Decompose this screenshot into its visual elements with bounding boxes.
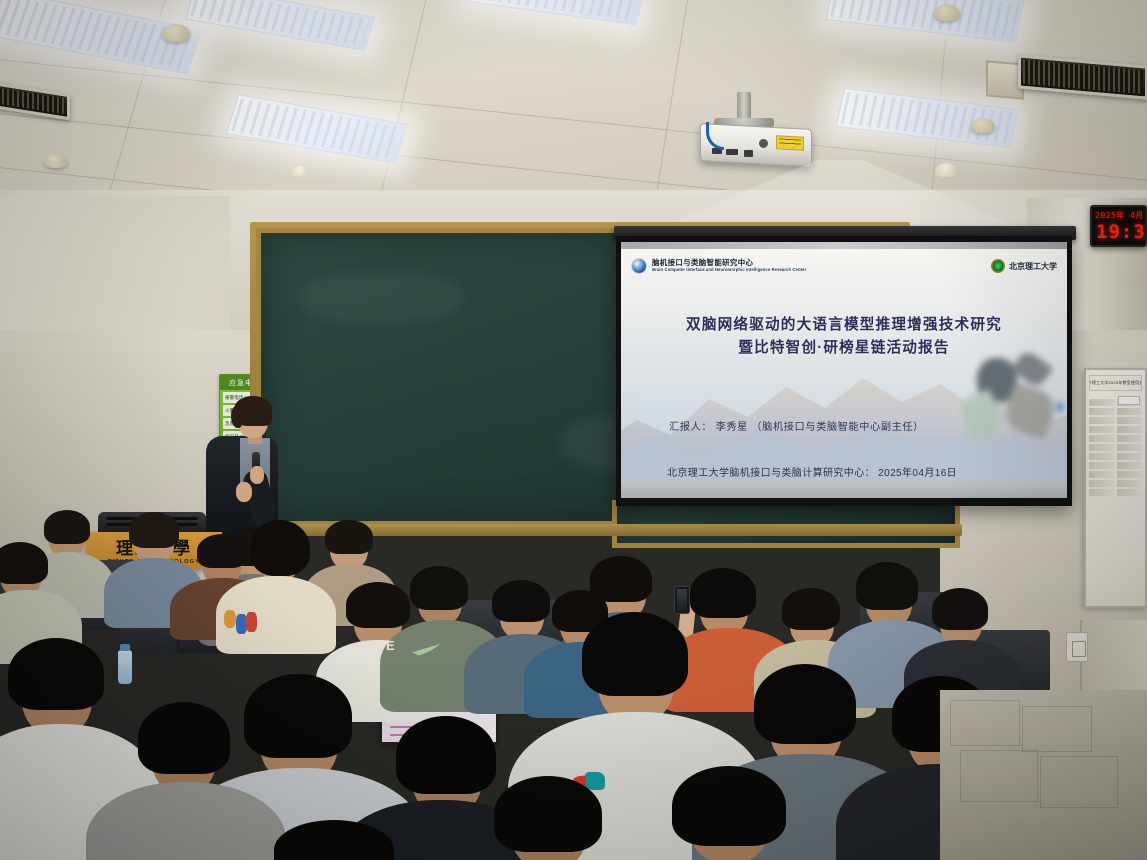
notice-board-title: 北京理工大学2025年教室使用安排 [1089,375,1142,391]
pendant-lamp-icon [292,166,308,177]
smoke-detector-icon [44,154,68,168]
projector-port [744,150,753,157]
notice-board-tag [1118,396,1140,405]
wall-notice-board: 北京理工大学2025年教室使用安排 [1084,368,1147,608]
pendant-lamp-icon [935,163,957,177]
slide-title-line1: 双脑网络驱动的大语言模型推理增强技术研究 [621,314,1067,337]
projection-screen: 脑机接口与类脑智能研究中心 Brain Computer Interface a… [616,236,1072,506]
presentation-slide: 脑机接口与类脑智能研究中心 Brain Computer Interface a… [621,242,1067,498]
speaker-hand [250,466,264,484]
notice-board-rows [1086,395,1145,500]
air-conditioning-vent [1018,54,1147,99]
raised-smartphone [674,586,690,614]
smoke-detector-icon [934,4,960,21]
slide-footer-line: 北京理工大学脑机接口与类脑计算研究中心： 2025年04月16日 [667,464,957,479]
digital-led-clock: 2025年 4月 19:3 [1090,205,1147,247]
clock-date: 2025年 4月 [1095,210,1143,221]
research-center-logo: 脑机接口与类脑智能研究中心 Brain Computer Interface a… [631,258,806,274]
lecture-hall-photo: 2025年 4月 19:3 应急电话 报警电话 110 火警电话 119 急救电… [0,0,1147,860]
slide-bottom-strip [621,482,1067,498]
slide-title-line2: 暨比特智创·研榜星链活动报告 [621,337,1067,360]
speaker-hair [234,396,272,422]
projector-warning-label [776,135,804,150]
wall-outlet[interactable] [1066,632,1088,662]
slide-header: 脑机接口与类脑智能研究中心 Brain Computer Interface a… [631,253,1057,279]
university-name-cn: 北京理工大学 [1009,261,1057,272]
slide-presenter-line: 汇报人： 李秀星 （脑机接口与类脑智能中心副主任） [669,418,924,433]
floor [940,690,1147,860]
clock-time: 19:3 [1096,221,1146,243]
speaker-hand [236,482,252,502]
jacket-cartoon-print [222,608,260,638]
university-seal-icon [991,259,1005,273]
university-logo: 北京理工大学 [991,259,1057,273]
slide-top-bar [621,242,1067,249]
slide-watermark-graphic [963,358,1061,444]
shirt-letter: E [386,638,395,653]
globe-icon [631,258,647,274]
projector-port [726,149,738,155]
ceiling-light-panel [466,0,643,25]
ceiling-light-panel [825,0,1024,43]
smoke-detector-icon [971,118,995,133]
smoke-detector-icon [162,24,190,42]
projector-lens [759,139,768,148]
water-bottle [118,650,132,684]
slide-title: 双脑网络驱动的大语言模型推理增强技术研究 暨比特智创·研榜星链活动报告 [621,314,1067,359]
watermark-dot-icon [1057,402,1063,412]
center-name-en: Brain Computer Interface and Neuromorphi… [652,268,806,273]
